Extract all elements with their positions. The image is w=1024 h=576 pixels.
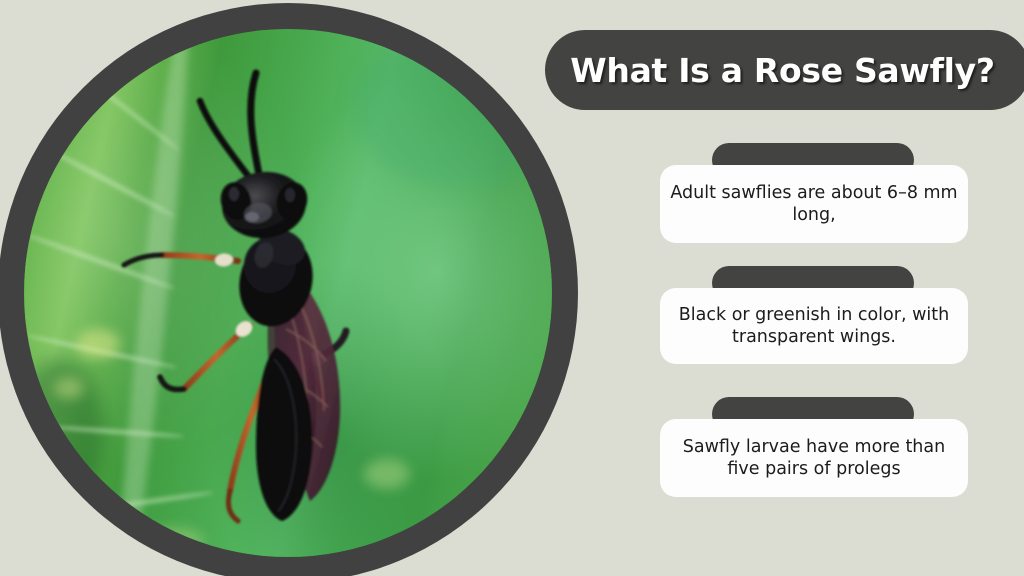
sawfly-insect bbox=[24, 29, 552, 557]
fact-card-text: Black or greenish in color, with transpa… bbox=[668, 304, 960, 348]
sawfly-photo bbox=[24, 29, 552, 557]
sawfly-photo-circle bbox=[0, 3, 578, 576]
fact-card-body: Sawfly larvae have more than five pairs … bbox=[660, 419, 968, 497]
fact-card-text: Sawfly larvae have more than five pairs … bbox=[668, 436, 960, 480]
fact-card-body: Black or greenish in color, with transpa… bbox=[660, 288, 968, 364]
page-title: What Is a Rose Sawfly? bbox=[570, 51, 994, 90]
slide-canvas: What Is a Rose Sawfly? Adult sawflies ar… bbox=[0, 0, 1024, 576]
fact-card-text: Adult sawflies are about 6–8 mm long, bbox=[668, 182, 960, 226]
fact-card-body: Adult sawflies are about 6–8 mm long, bbox=[660, 165, 968, 243]
title-banner: What Is a Rose Sawfly? bbox=[545, 30, 1024, 110]
